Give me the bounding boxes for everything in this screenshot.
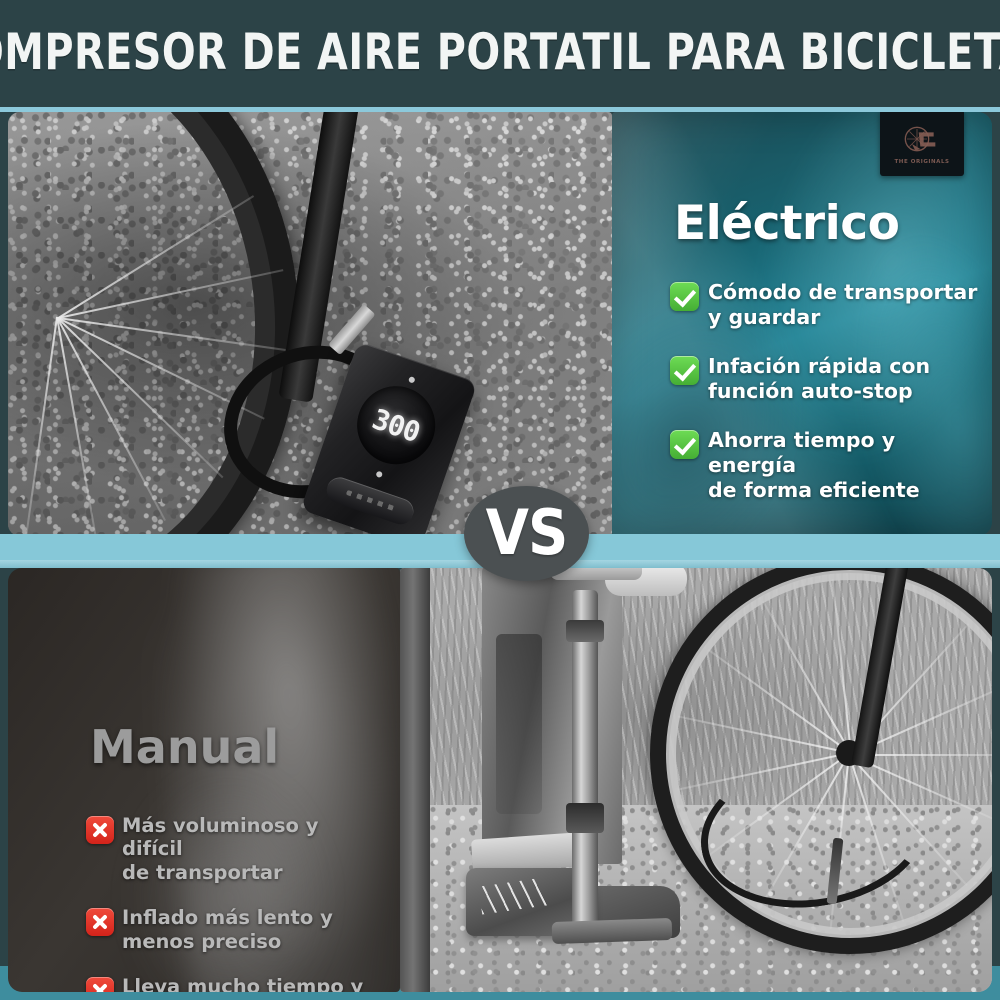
electric-pump-photo: BICYCLE 300 — [8, 112, 612, 536]
benefit-text: Cómodo de transportar y guardar — [708, 280, 977, 330]
cross-icon — [86, 977, 114, 992]
electric-heading: Eléctrico — [674, 196, 899, 251]
pump-indicator-top — [408, 376, 416, 384]
drawback-line-2: de transportar — [122, 861, 283, 884]
check-icon — [670, 430, 699, 459]
comparison-stage: BICYCLE 300 THE ORIGINALS Eléctr — [0, 104, 1000, 1000]
vs-label: VS — [486, 497, 568, 570]
pump-display-value: 300 — [368, 402, 424, 449]
page-title: COMPRESOR DE AIRE PORTATIL PARA BICICLET… — [0, 23, 1000, 82]
benefit-item: Ahorra tiempo y energía de forma eficien… — [670, 428, 980, 503]
manual-pump-photo — [400, 568, 992, 992]
manual-drawback-list: Más voluminoso y difícil de transportar … — [86, 814, 376, 992]
drawback-line-2: menos preciso — [122, 930, 281, 953]
manual-drawbacks-panel: Manual Más voluminoso y difícil de trans… — [8, 568, 400, 992]
drawback-item: Lleva mucho tiempo y es físicamente agot… — [86, 975, 376, 992]
drawback-item: Inflado más lento y menos preciso — [86, 906, 376, 953]
benefit-text: Ahorra tiempo y energía de forma eficien… — [708, 428, 980, 503]
floor-pump-base — [552, 918, 673, 944]
manual-heading: Manual — [90, 720, 279, 774]
benefit-line-2: de forma eficiente — [708, 478, 920, 502]
benefit-line-1: Infación rápida con — [708, 354, 930, 378]
benefit-line-2: y guardar — [708, 305, 820, 329]
brand-emblem-icon — [902, 122, 942, 156]
floor-pump-collar — [566, 803, 604, 833]
electric-benefits-panel: THE ORIGINALS Eléctrico Cómodo de transp… — [612, 112, 992, 536]
drawback-line-1: Inflado más lento y — [122, 906, 333, 929]
benefit-line-2: función auto-stop — [708, 379, 913, 403]
brand-logo-badge: THE ORIGINALS — [880, 112, 964, 176]
background-post — [400, 568, 430, 992]
electric-benefit-list: Cómodo de transportar y guardar Infación… — [670, 280, 980, 527]
check-icon — [670, 356, 699, 385]
pump-power-button — [323, 474, 417, 528]
floor-pump-collar-top — [566, 620, 604, 642]
benefit-text: Infación rápida con función auto-stop — [708, 354, 930, 404]
bicycle-spokes — [8, 112, 258, 536]
drawback-text: Lleva mucho tiempo y es físicamente agot… — [122, 975, 376, 992]
drawback-text: Más voluminoso y difícil de transportar — [122, 814, 376, 884]
check-icon — [670, 282, 699, 311]
page-header: COMPRESOR DE AIRE PORTATIL PARA BICICLET… — [0, 0, 1000, 104]
drawback-text: Inflado más lento y menos preciso — [122, 906, 333, 953]
brand-badge-text: THE ORIGINALS — [894, 159, 949, 165]
benefit-item: Cómodo de transportar y guardar — [670, 280, 980, 330]
benefit-line-1: Cómodo de transportar — [708, 280, 977, 304]
vs-badge: VS — [464, 486, 589, 581]
benefit-item: Infación rápida con función auto-stop — [670, 354, 980, 404]
pump-display: 300 — [347, 376, 446, 475]
benefit-line-1: Ahorra tiempo y energía — [708, 428, 895, 477]
pump-indicator-bottom — [375, 471, 383, 479]
drawback-item: Más voluminoso y difícil de transportar — [86, 814, 376, 884]
cross-icon — [86, 908, 114, 936]
drawback-line-1: Más voluminoso y difícil — [122, 814, 318, 860]
drawback-line-1: Lleva mucho tiempo y es — [122, 975, 363, 992]
cross-icon — [86, 816, 114, 844]
